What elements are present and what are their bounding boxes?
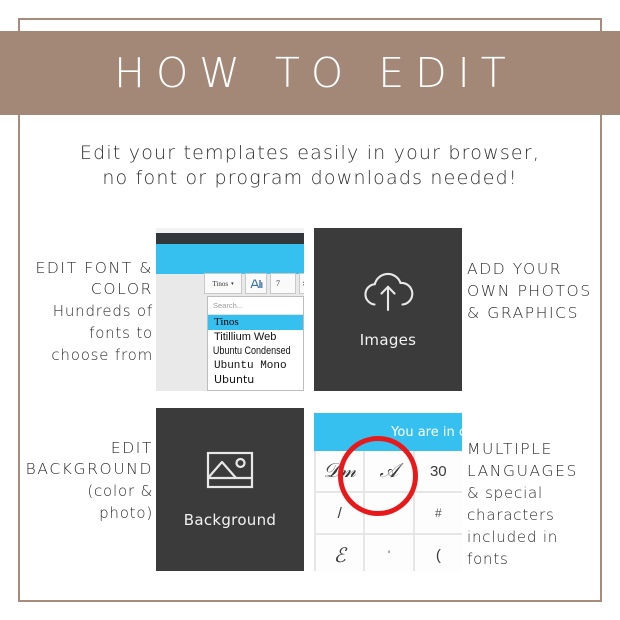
- charmap-cell[interactable]: ·: [365, 493, 412, 533]
- font-editor-screenshot: Tinos ▾ 7 ▴ ▾: [156, 228, 304, 391]
- charmap-cell-highlighted[interactable]: 𝒜: [365, 451, 412, 491]
- photos-heading-line-1: ADD YOUR: [467, 258, 612, 280]
- charmap-cell[interactable]: ℰ: [316, 535, 363, 571]
- editor-banner: [156, 244, 304, 274]
- subtitle-line-2: no font or program downloads needed!: [30, 166, 590, 191]
- page-title: HOW TO EDIT: [103, 49, 517, 97]
- images-card[interactable]: Images: [314, 228, 462, 391]
- background-sub-line-1: (color &: [8, 480, 153, 502]
- font-list-item-ubuntu-mono[interactable]: Ubuntu Mono: [208, 359, 303, 374]
- font-list-item-tinos[interactable]: Tinos: [208, 315, 303, 330]
- font-size-input[interactable]: 7: [270, 273, 296, 294]
- photos-heading-line-2: OWN PHOTOS: [467, 280, 612, 302]
- subtitle: Edit your templates easily in your brows…: [30, 141, 590, 191]
- subtitle-line-1: Edit your templates easily in your brows…: [30, 141, 590, 166]
- font-family-value: Tinos: [212, 280, 228, 288]
- font-family-dropdown-panel: Search... Tinos Titillium Web Ubuntu Con…: [207, 296, 304, 391]
- row-top: EDIT FONT & COLOR Hundreds of fonts to c…: [0, 222, 620, 402]
- background-heading-line-2: BACKGROUND: [8, 459, 153, 480]
- caption-edit-font-color: EDIT FONT & COLOR Hundreds of fonts to c…: [8, 258, 153, 366]
- font-toolbar: Tinos ▾ 7 ▴ ▾: [204, 273, 304, 294]
- font-list: Tinos Titillium Web Ubuntu Condensed Ubu…: [208, 315, 303, 388]
- languages-sub-line-4: fonts: [467, 548, 612, 570]
- font-size-stepper[interactable]: ▴ ▾: [299, 273, 304, 294]
- background-sub-line-2: photo): [8, 502, 153, 524]
- caption-sub-line-3: choose from: [8, 344, 153, 366]
- charmap-cell[interactable]: /: [316, 493, 363, 533]
- languages-heading-line-1: MULTIPLE: [467, 438, 612, 460]
- header-band: HOW TO EDIT: [0, 31, 620, 115]
- languages-banner-text: You are in c: [391, 425, 462, 440]
- caption-add-photos: ADD YOUR OWN PHOTOS & GRAPHICS: [467, 258, 612, 324]
- charmap-cell[interactable]: (: [415, 535, 462, 571]
- charmap-cell[interactable]: 𝒟𝓂: [316, 451, 363, 491]
- font-list-item-ubuntu-condensed[interactable]: Ubuntu Condensed: [208, 344, 286, 359]
- caption-sub-line-1: Hundreds of: [8, 300, 153, 322]
- charmap-cell[interactable]: ': [365, 535, 412, 571]
- editor-title-bar: [156, 233, 304, 244]
- character-map-grid: 𝒟𝓂 𝒜 30 / · # ℰ ' (: [314, 451, 462, 571]
- how-to-edit-infographic: HOW TO EDIT Edit your templates easily i…: [0, 0, 620, 620]
- caption-sub-line-2: fonts to: [8, 322, 153, 344]
- chevron-down-icon: ▾: [231, 281, 234, 287]
- caption-heading-line-2: COLOR: [8, 279, 153, 300]
- languages-screenshot: You are in c 𝒟𝓂 𝒜 30 / · # ℰ ' (: [314, 408, 462, 571]
- background-heading-line-1: EDIT: [8, 438, 153, 459]
- row-bottom: EDIT BACKGROUND (color & photo) Backgrou…: [0, 402, 620, 582]
- caption-heading-line-1: EDIT FONT &: [8, 258, 153, 279]
- stepper-down-icon[interactable]: ▾: [303, 284, 304, 288]
- languages-sub-line-3: included in: [467, 526, 612, 548]
- caption-edit-background: EDIT BACKGROUND (color & photo): [8, 438, 153, 524]
- cloud-upload-icon: [359, 270, 417, 317]
- languages-sub-line-2: characters: [467, 504, 612, 526]
- image-picture-icon: [206, 450, 254, 497]
- background-card[interactable]: Background: [156, 408, 304, 571]
- font-list-item-titillium-web[interactable]: Titillium Web: [208, 330, 303, 345]
- font-search-input[interactable]: Search...: [208, 297, 303, 315]
- photos-heading-line-3: & GRAPHICS: [467, 302, 612, 324]
- images-card-label: Images: [360, 331, 417, 349]
- charmap-cell[interactable]: 30: [415, 451, 462, 491]
- background-card-label: Background: [184, 511, 277, 529]
- font-list-item-ubuntu[interactable]: Ubuntu: [208, 373, 303, 388]
- caption-multiple-languages: MULTIPLE LANGUAGES & special characters …: [467, 438, 612, 570]
- languages-sub-line-1: & special: [467, 482, 612, 504]
- font-family-dropdown-button[interactable]: Tinos ▾: [204, 273, 242, 294]
- charmap-cell[interactable]: #: [415, 493, 462, 533]
- languages-heading-line-2: LANGUAGES: [467, 460, 612, 482]
- languages-banner: You are in c: [314, 413, 462, 451]
- text-size-icon[interactable]: [245, 273, 267, 294]
